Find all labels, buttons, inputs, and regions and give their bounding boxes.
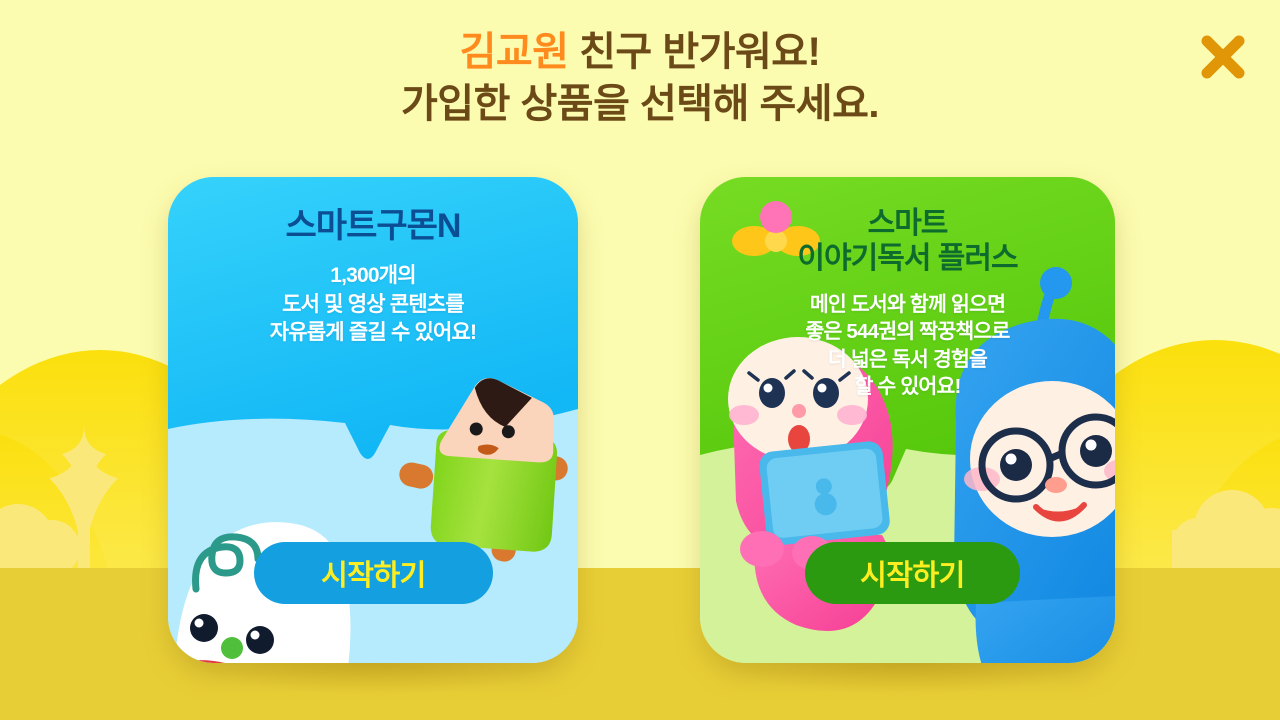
boy-eye-right <box>1080 435 1112 467</box>
product-card-smart-story-reading-plus[interactable]: 스마트 이야기독서 플러스 메인 도서와 함께 읽으면 좋은 544권의 짝꿍책… <box>700 177 1115 663</box>
title-line-2: 가입한 상품을 선택해 주세요. <box>0 78 1280 130</box>
card-desc-line: 좋은 544권의 짝꿍책으로 <box>700 318 1115 345</box>
card-description: 메인 도서와 함께 읽으면 좋은 544권의 짝꿍책으로 더 넓은 독서 경험을… <box>700 291 1115 401</box>
card-text-smart-gumon: 스마트구몬N 1,300개의 도서 및 영상 콘텐츠를 자유롭게 즐길 수 있어… <box>168 207 578 347</box>
title-line-1: 김교원 친구 반가워요! <box>0 26 1280 78</box>
card-desc-line: 자유롭게 즐길 수 있어요! <box>168 319 578 347</box>
book-nose <box>221 637 243 659</box>
card-title: 스마트 이야기독서 플러스 <box>700 207 1115 277</box>
card-desc-line: 할 수 있어요! <box>700 373 1115 400</box>
card-text-story-reading: 스마트 이야기독서 플러스 메인 도서와 함께 읽으면 좋은 544권의 짝꿍책… <box>700 207 1115 400</box>
product-card-smart-gumon-n[interactable]: 스마트구몬N 1,300개의 도서 및 영상 콘텐츠를 자유롭게 즐길 수 있어… <box>168 177 578 663</box>
boy-eye-left <box>1000 449 1032 481</box>
card-desc-line: 메인 도서와 함께 읽으면 <box>700 291 1115 318</box>
book-eye-left <box>190 614 218 642</box>
start-button-smart-gumon-n[interactable]: 시작하기 <box>254 542 493 604</box>
card-desc-line: 더 넓은 독서 경험을 <box>700 346 1115 373</box>
user-name: 김교원 <box>460 30 569 74</box>
page-title: 김교원 친구 반가워요! 가입한 상품을 선택해 주세요. <box>0 26 1280 130</box>
product-selection-screen: 김교원 친구 반가워요! 가입한 상품을 선택해 주세요. <box>0 0 1280 720</box>
card-title: 스마트구몬N <box>168 207 578 246</box>
title-greeting: 친구 반가워요! <box>569 30 821 74</box>
start-button-story-reading-plus[interactable]: 시작하기 <box>805 542 1020 604</box>
card-title-line-2: 이야기독서 플러스 <box>700 242 1115 277</box>
book-eye-right <box>246 626 274 654</box>
card-description: 1,300개의 도서 및 영상 콘텐츠를 자유롭게 즐길 수 있어요! <box>168 262 578 346</box>
card-desc-line: 도서 및 영상 콘텐츠를 <box>168 291 578 319</box>
card-title-line-1: 스마트 <box>700 207 1115 242</box>
card-desc-line: 1,300개의 <box>168 262 578 290</box>
tablet-device <box>758 440 891 546</box>
